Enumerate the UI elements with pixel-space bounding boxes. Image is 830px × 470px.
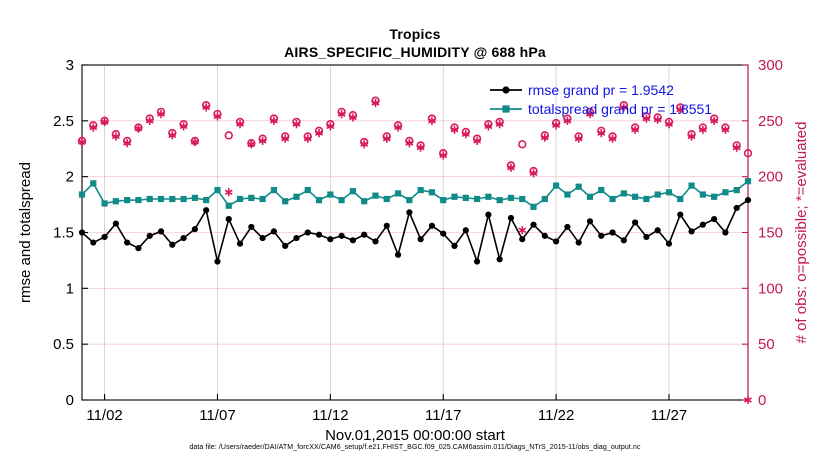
data-point bbox=[553, 238, 559, 244]
right-axis-tick-label: 0 bbox=[758, 392, 766, 409]
data-point bbox=[429, 223, 435, 229]
data-point bbox=[147, 196, 153, 202]
data-point bbox=[260, 196, 266, 202]
data-point bbox=[406, 197, 412, 203]
data-point bbox=[734, 205, 740, 211]
data-point bbox=[700, 222, 706, 228]
data-point bbox=[90, 239, 96, 245]
right-axis-tick-label: 100 bbox=[758, 280, 783, 297]
data-point bbox=[361, 232, 367, 238]
data-point bbox=[508, 195, 514, 201]
right-axis-tick-label: 50 bbox=[758, 336, 775, 353]
data-point bbox=[485, 194, 491, 200]
data-point bbox=[293, 194, 299, 200]
data-point bbox=[305, 187, 311, 193]
data-point bbox=[700, 191, 706, 197]
data-point bbox=[621, 190, 627, 196]
data-point bbox=[632, 219, 638, 225]
data-point bbox=[248, 224, 254, 230]
x-axis-tick-label: 11/27 bbox=[651, 407, 687, 424]
data-point bbox=[677, 196, 683, 202]
data-point bbox=[305, 229, 311, 235]
data-point bbox=[598, 233, 604, 239]
data-point bbox=[587, 194, 593, 200]
data-point bbox=[293, 235, 299, 241]
data-point bbox=[418, 236, 424, 242]
data-point bbox=[474, 258, 480, 264]
data-point bbox=[271, 187, 277, 193]
data-point bbox=[519, 141, 526, 148]
data-point bbox=[643, 234, 649, 240]
data-point bbox=[564, 191, 570, 197]
data-point bbox=[135, 197, 141, 203]
y-axis-tick-label: 1.5 bbox=[53, 225, 74, 242]
data-point bbox=[282, 243, 288, 249]
data-point bbox=[463, 195, 469, 201]
data-point bbox=[598, 187, 604, 193]
legend-label-0: rmse grand pr = 1.9542 bbox=[528, 82, 674, 98]
data-point bbox=[440, 197, 446, 203]
data-point bbox=[101, 200, 107, 206]
data-point bbox=[519, 236, 525, 242]
data-point bbox=[79, 191, 85, 197]
data-point bbox=[214, 258, 220, 264]
data-point bbox=[214, 187, 220, 193]
data-point bbox=[225, 188, 232, 196]
data-point bbox=[169, 242, 175, 248]
data-point bbox=[609, 196, 615, 202]
data-point bbox=[553, 183, 559, 189]
data-point bbox=[372, 238, 378, 244]
data-point bbox=[734, 187, 740, 193]
data-point bbox=[688, 183, 694, 189]
data-point bbox=[632, 194, 638, 200]
data-point bbox=[248, 195, 254, 201]
data-point bbox=[124, 239, 130, 245]
y-axis-tick-label: 1 bbox=[66, 280, 74, 297]
data-point bbox=[158, 228, 164, 234]
data-point bbox=[655, 227, 661, 233]
data-point bbox=[350, 237, 356, 243]
data-point bbox=[384, 196, 390, 202]
data-point bbox=[666, 189, 672, 195]
data-point bbox=[192, 226, 198, 232]
data-point bbox=[260, 235, 266, 241]
data-point bbox=[587, 218, 593, 224]
data-point bbox=[192, 195, 198, 201]
data-point bbox=[745, 178, 751, 184]
data-point bbox=[339, 197, 345, 203]
data-point bbox=[451, 194, 457, 200]
data-point bbox=[745, 197, 751, 203]
data-point bbox=[451, 243, 457, 249]
x-axis-tick-label: 11/12 bbox=[312, 407, 348, 424]
right-axis-tick-label: 250 bbox=[758, 113, 783, 130]
data-point bbox=[688, 228, 694, 234]
data-point bbox=[564, 224, 570, 230]
data-point bbox=[113, 198, 119, 204]
data-point bbox=[519, 196, 525, 202]
data-point bbox=[203, 197, 209, 203]
data-point bbox=[271, 228, 277, 234]
y-axis-tick-label: 2 bbox=[66, 169, 74, 186]
data-point bbox=[429, 189, 435, 195]
data-point bbox=[542, 233, 548, 239]
data-point bbox=[530, 204, 536, 210]
data-point bbox=[530, 222, 536, 228]
data-point bbox=[372, 193, 378, 199]
x-axis-title: Nov.01,2015 00:00:00 start bbox=[325, 427, 506, 444]
data-point bbox=[226, 203, 232, 209]
chart-subtitle: AIRS_SPECIFIC_HUMIDITY @ 688 hPa bbox=[0, 43, 830, 61]
chart-figure: Tropics AIRS_SPECIFIC_HUMIDITY @ 688 hPa… bbox=[0, 0, 830, 470]
data-point bbox=[124, 197, 130, 203]
right-axis-tick-label: 200 bbox=[758, 169, 783, 186]
data-point bbox=[169, 196, 175, 202]
data-point bbox=[576, 184, 582, 190]
data-point bbox=[327, 236, 333, 242]
data-point bbox=[101, 234, 107, 240]
data-point bbox=[485, 212, 491, 218]
data-point bbox=[722, 189, 728, 195]
data-point bbox=[609, 229, 615, 235]
data-point bbox=[497, 256, 503, 262]
data-point bbox=[722, 229, 728, 235]
data-point bbox=[282, 198, 288, 204]
series-line-totalspread bbox=[82, 181, 748, 207]
data-point bbox=[339, 233, 345, 239]
x-axis-tick-label: 11/02 bbox=[86, 407, 122, 424]
data-point bbox=[655, 191, 661, 197]
data-point bbox=[79, 229, 85, 235]
data-point bbox=[643, 196, 649, 202]
right-axis-tick-label: 150 bbox=[758, 225, 783, 242]
data-point bbox=[226, 216, 232, 222]
right-axis-title: # of obs: o=possible; *=evaluated bbox=[793, 122, 810, 344]
data-point bbox=[395, 190, 401, 196]
data-point bbox=[508, 215, 514, 221]
data-point bbox=[542, 196, 548, 202]
data-point bbox=[711, 194, 717, 200]
data-point bbox=[147, 233, 153, 239]
page-title: Tropics bbox=[0, 26, 830, 43]
data-point bbox=[180, 235, 186, 241]
data-point bbox=[113, 220, 119, 226]
data-file-footer: data file: /Users/raeder/DAI/ATM_forcXX/… bbox=[0, 444, 830, 451]
legend-marker-square bbox=[502, 105, 509, 112]
data-point bbox=[576, 239, 582, 245]
series-line-rmse bbox=[82, 200, 748, 261]
data-point bbox=[158, 196, 164, 202]
data-point bbox=[316, 232, 322, 238]
title-block: Tropics AIRS_SPECIFIC_HUMIDITY @ 688 hPa bbox=[0, 26, 830, 61]
data-point bbox=[237, 196, 243, 202]
data-point bbox=[90, 180, 96, 186]
data-point bbox=[711, 216, 717, 222]
data-point bbox=[497, 197, 503, 203]
data-point bbox=[440, 231, 446, 237]
data-point bbox=[463, 227, 469, 233]
plot-canvas: 00.511.522.5305010015020025030011/0211/0… bbox=[0, 0, 830, 444]
data-point bbox=[327, 191, 333, 197]
data-point bbox=[666, 241, 672, 247]
data-point bbox=[180, 196, 186, 202]
data-point bbox=[384, 223, 390, 229]
data-point bbox=[474, 196, 480, 202]
x-axis-tick-label: 11/22 bbox=[538, 407, 574, 424]
data-point bbox=[621, 237, 627, 243]
legend-label-1: totalspread grand pr = 1.8551 bbox=[528, 101, 712, 117]
data-point bbox=[237, 241, 243, 247]
x-axis-tick-label: 11/17 bbox=[425, 407, 461, 424]
data-point bbox=[225, 132, 232, 139]
data-point bbox=[135, 245, 141, 251]
data-point bbox=[361, 198, 367, 204]
x-axis-tick-label: 11/07 bbox=[199, 407, 235, 424]
data-point bbox=[406, 209, 412, 215]
legend-marker-circle bbox=[502, 86, 509, 93]
data-point bbox=[316, 197, 322, 203]
y-axis-tick-label: 0 bbox=[66, 392, 74, 409]
y-axis-tick-label: 2.5 bbox=[53, 113, 74, 130]
data-point bbox=[418, 187, 424, 193]
y-axis-tick-label: 0.5 bbox=[53, 336, 74, 353]
y-axis-title: rmse and totalspread bbox=[17, 162, 34, 303]
data-point bbox=[350, 188, 356, 194]
data-point bbox=[203, 207, 209, 213]
data-point bbox=[677, 212, 683, 218]
data-point bbox=[395, 252, 401, 258]
